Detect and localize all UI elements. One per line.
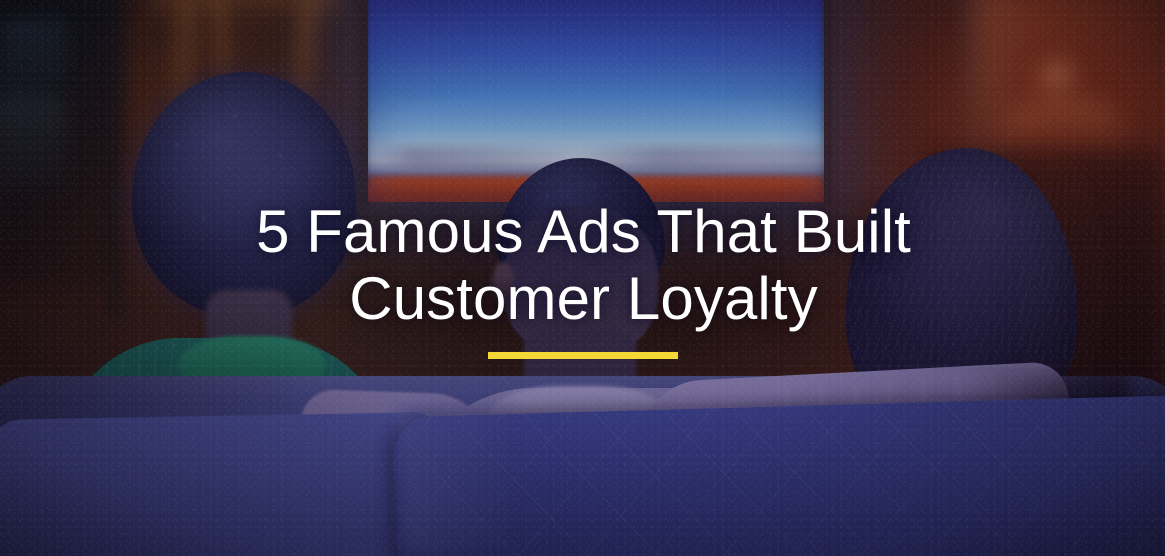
person-center-ear <box>492 262 514 302</box>
hero-banner: 5 Famous Ads That Built Customer Loyalty <box>0 0 1165 556</box>
shelf-object-upper <box>2 18 66 102</box>
couch-seat-cushion <box>0 412 441 556</box>
blanket-fold <box>394 399 522 555</box>
lamp-bulb-glow <box>1031 54 1083 98</box>
tv-bezel-right <box>820 0 830 204</box>
lamp-shade <box>1003 96 1123 154</box>
shelf-object-lower <box>0 96 66 192</box>
person-left-hair <box>132 72 356 316</box>
shelf-edge <box>108 0 132 320</box>
tv-bezel-left <box>360 0 370 204</box>
